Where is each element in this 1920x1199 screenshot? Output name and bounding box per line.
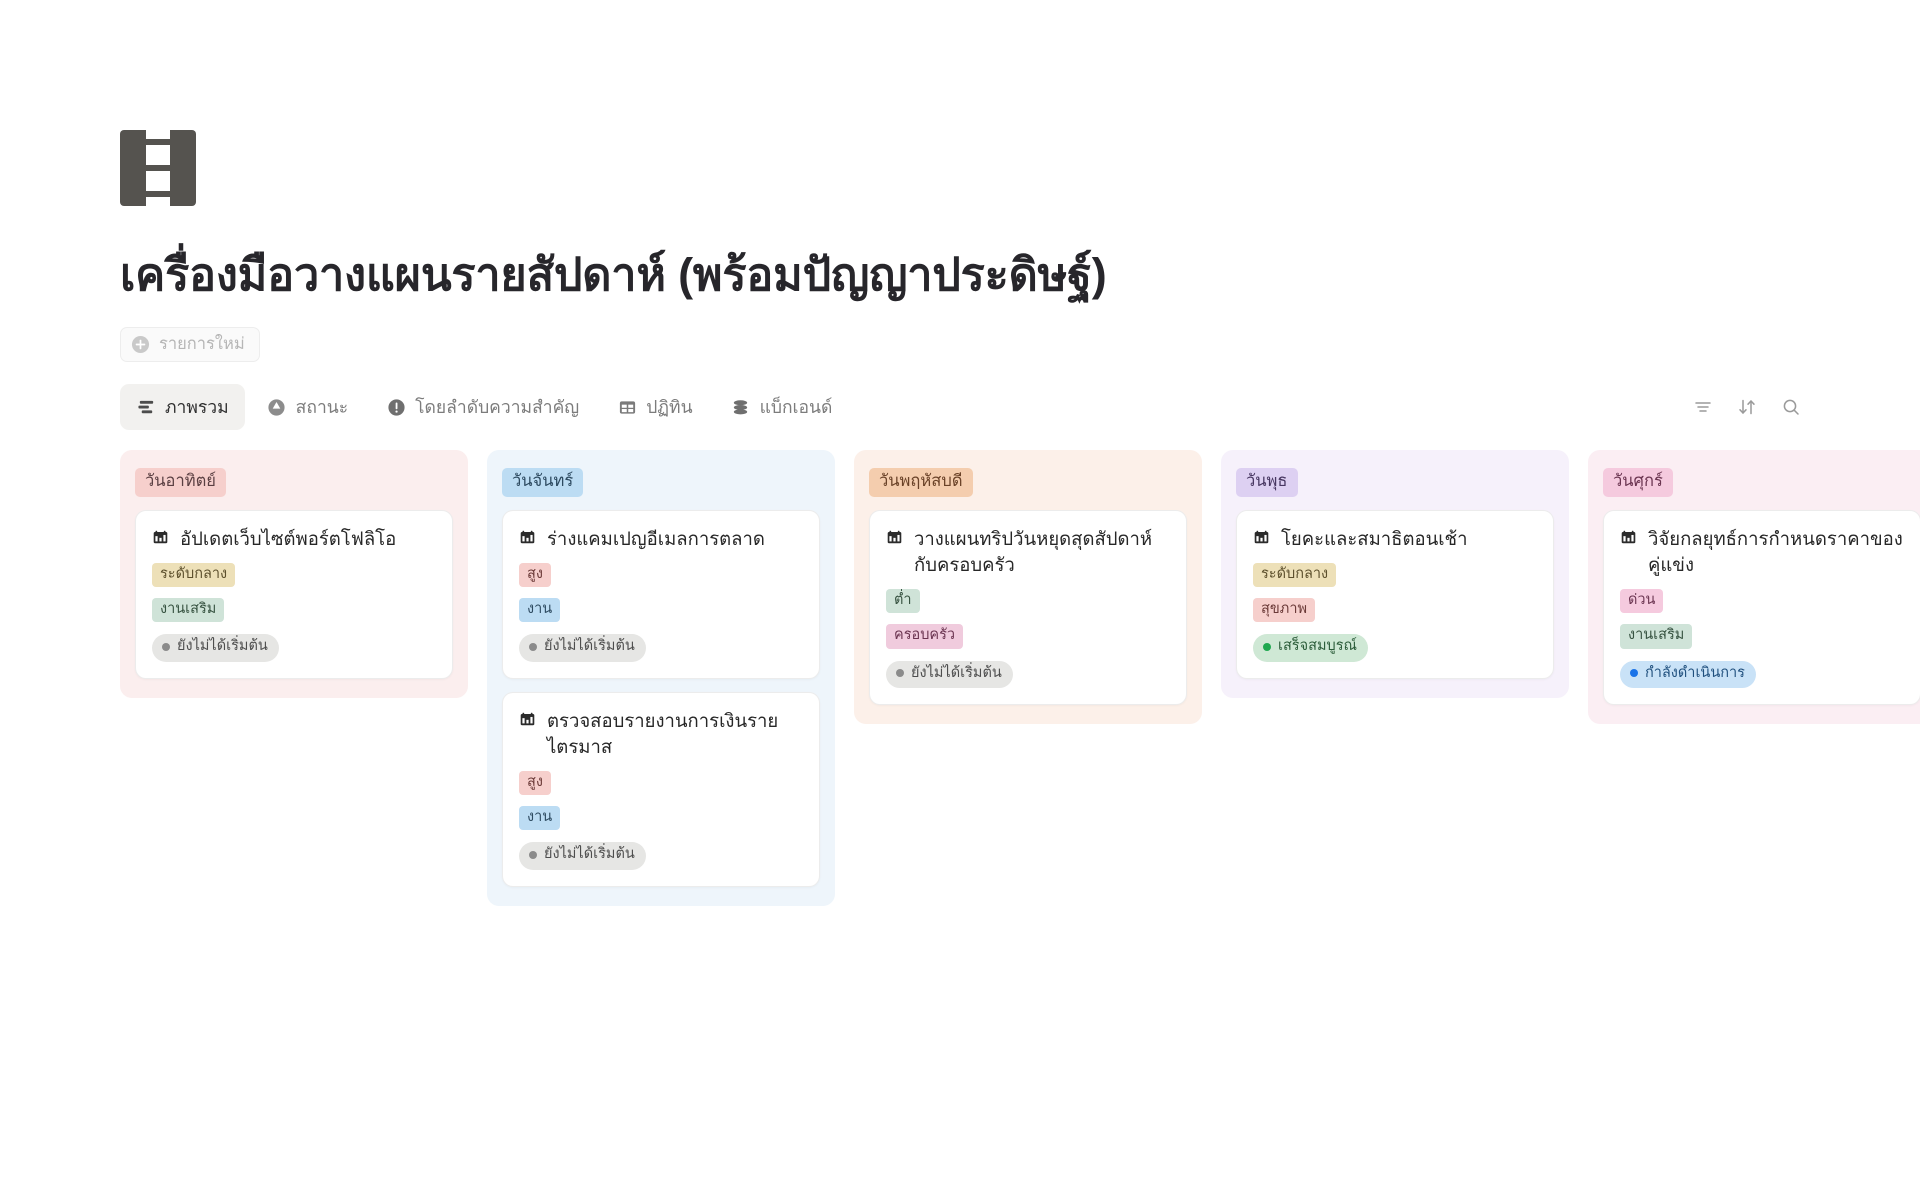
category-tag-row: สุขภาพ: [1253, 587, 1537, 622]
status-dot-icon: [162, 643, 170, 651]
tab-status[interactable]: สถานะ: [251, 384, 364, 430]
filter-icon[interactable]: [1692, 396, 1714, 418]
priority-tag-row: ระดับกลาง: [1253, 552, 1537, 587]
search-icon[interactable]: [1780, 396, 1802, 418]
task-card[interactable]: ร่างแคมเปญอีเมลการตลาดสูงงานยังไม่ได้เริ…: [502, 510, 820, 679]
board-column: วันจันทร์ร่างแคมเปญอีเมลการตลาดสูงงานยัง…: [487, 450, 835, 906]
status-badge[interactable]: ยังไม่ได้เริ่มต้น: [519, 634, 646, 661]
priority-tag-row: ด่วน: [1620, 578, 1904, 613]
task-title: โยคะและสมาธิตอนเช้า: [1281, 526, 1468, 552]
column-day-chip[interactable]: วันจันทร์: [502, 468, 583, 497]
weekly-board: วันอาทิตย์อัปเดตเว็บไซต์พอร์ตโฟลิโอระดับ…: [0, 450, 1920, 906]
priority-tag[interactable]: ระดับกลาง: [152, 563, 235, 587]
status-label: เสร็จสมบูรณ์: [1278, 638, 1357, 655]
status-dot-icon: [1263, 643, 1271, 651]
category-tag[interactable]: งานเสริม: [152, 598, 224, 622]
status-label: กำลังดำเนินการ: [1645, 665, 1745, 682]
calendar-icon: [519, 529, 536, 551]
priority-tag-row: สูง: [519, 552, 803, 587]
tab-overview-label: ภาพรวม: [165, 393, 229, 421]
priority-tag-row: ระดับกลาง: [152, 552, 436, 587]
calendar-grid-icon: [617, 397, 637, 417]
tab-calendar-label: ปฏิทิน: [646, 393, 692, 421]
calendar-icon: [152, 529, 169, 551]
task-card-title-row: โยคะและสมาธิตอนเช้า: [1253, 526, 1537, 552]
board-overview-icon: [136, 397, 156, 417]
page-header: เครื่องมือวางแผนรายสัปดาห์ (พร้อมปัญญาปร…: [0, 0, 1920, 430]
category-tag[interactable]: งาน: [519, 806, 560, 830]
new-item-label: รายการใหม่: [159, 336, 245, 353]
status-badge[interactable]: ยังไม่ได้เริ่มต้น: [886, 661, 1013, 688]
category-tag[interactable]: สุขภาพ: [1253, 598, 1315, 622]
table-grid-icon: [120, 130, 196, 206]
status-row: ยังไม่ได้เริ่มต้น: [519, 830, 803, 869]
category-tag-row: งาน: [519, 587, 803, 622]
category-tag-row: งานเสริม: [152, 587, 436, 622]
board-column: วันพฤหัสบดีวางแผนทริปวันหยุดสุดสัปดาห์กั…: [854, 450, 1202, 724]
view-tabs: ภาพรวม สถานะ: [120, 384, 848, 430]
status-dot-icon: [529, 851, 537, 859]
task-title: อัปเดตเว็บไซต์พอร์ตโฟลิโอ: [180, 526, 396, 552]
task-title: ตรวจสอบรายงานการเงินรายไตรมาส: [547, 708, 803, 761]
status-badge[interactable]: ยังไม่ได้เริ่มต้น: [152, 634, 279, 661]
column-day-chip[interactable]: วันพุธ: [1236, 468, 1298, 497]
tab-calendar[interactable]: ปฏิทิน: [601, 384, 708, 430]
tab-backend-label: แบ็กเอนด์: [760, 393, 833, 421]
status-badge[interactable]: ยังไม่ได้เริ่มต้น: [519, 842, 646, 869]
task-card[interactable]: วิจัยกลยุทธ์การกำหนดราคาของคู่แข่งด่วนงา…: [1603, 510, 1920, 705]
tab-status-label: สถานะ: [296, 393, 348, 421]
category-tag[interactable]: งานเสริม: [1620, 624, 1692, 648]
status-row: กำลังดำเนินการ: [1620, 649, 1904, 688]
category-tag[interactable]: งาน: [519, 598, 560, 622]
tab-priority[interactable]: โดยลำดับความสำคัญ: [370, 384, 595, 430]
category-tag-row: ครอบครัว: [886, 613, 1170, 648]
category-tag-row: งาน: [519, 795, 803, 830]
task-card[interactable]: วางแผนทริปวันหยุดสุดสัปดาห์กับครอบครัวต่…: [869, 510, 1187, 705]
task-card-title-row: ตรวจสอบรายงานการเงินรายไตรมาส: [519, 708, 803, 761]
status-label: ยังไม่ได้เริ่มต้น: [544, 846, 635, 863]
status-dot-icon: [1630, 669, 1638, 677]
app-root: เครื่องมือวางแผนรายสัปดาห์ (พร้อมปัญญาปร…: [0, 0, 1920, 1199]
status-dot-icon: [529, 643, 537, 651]
priority-tag[interactable]: ระดับกลาง: [1253, 563, 1336, 587]
status-label: ยังไม่ได้เริ่มต้น: [544, 638, 635, 655]
column-day-chip[interactable]: วันศุกร์: [1603, 468, 1673, 497]
status-label: ยังไม่ได้เริ่มต้น: [177, 638, 268, 655]
task-title: วางแผนทริปวันหยุดสุดสัปดาห์กับครอบครัว: [914, 526, 1170, 579]
status-badge[interactable]: เสร็จสมบูรณ์: [1253, 634, 1368, 661]
status-badge[interactable]: กำลังดำเนินการ: [1620, 661, 1756, 688]
status-row: เสร็จสมบูรณ์: [1253, 622, 1537, 661]
status-dot-icon: [896, 669, 904, 677]
status-row: ยังไม่ได้เริ่มต้น: [519, 622, 803, 661]
plus-circle-icon: [131, 335, 150, 354]
column-day-chip[interactable]: วันพฤหัสบดี: [869, 468, 973, 497]
tab-overview[interactable]: ภาพรวม: [120, 384, 245, 430]
task-card[interactable]: อัปเดตเว็บไซต์พอร์ตโฟลิโอระดับกลางงานเสร…: [135, 510, 453, 679]
board-tool-icons: [1692, 396, 1802, 418]
task-card[interactable]: โยคะและสมาธิตอนเช้าระดับกลางสุขภาพเสร็จส…: [1236, 510, 1554, 679]
priority-tag[interactable]: สูง: [519, 563, 551, 587]
tab-priority-label: โดยลำดับความสำคัญ: [415, 393, 579, 421]
task-card-title-row: อัปเดตเว็บไซต์พอร์ตโฟลิโอ: [152, 526, 436, 552]
task-title: วิจัยกลยุทธ์การกำหนดราคาของคู่แข่ง: [1648, 526, 1904, 579]
task-card[interactable]: ตรวจสอบรายงานการเงินรายไตรมาสสูงงานยังไม…: [502, 692, 820, 887]
calendar-icon: [886, 529, 903, 551]
tab-backend[interactable]: แบ็กเอนด์: [715, 384, 849, 430]
calendar-icon: [1620, 529, 1637, 551]
status-row: ยังไม่ได้เริ่มต้น: [152, 622, 436, 661]
calendar-icon: [519, 711, 536, 733]
task-card-title-row: วิจัยกลยุทธ์การกำหนดราคาของคู่แข่ง: [1620, 526, 1904, 579]
view-tabbar: ภาพรวม สถานะ: [120, 384, 1920, 430]
database-stack-icon: [731, 397, 751, 417]
board-column: วันศุกร์วิจัยกลยุทธ์การกำหนดราคาของคู่แข…: [1588, 450, 1920, 724]
page-title: เครื่องมือวางแผนรายสัปดาห์ (พร้อมปัญญาปร…: [120, 248, 1920, 301]
status-row: ยังไม่ได้เริ่มต้น: [886, 649, 1170, 688]
drop-status-icon: [267, 397, 287, 417]
category-tag[interactable]: ครอบครัว: [886, 624, 963, 648]
status-label: ยังไม่ได้เริ่มต้น: [911, 665, 1002, 682]
priority-tag[interactable]: ต่ำ: [886, 589, 920, 613]
priority-tag[interactable]: ด่วน: [1620, 589, 1663, 613]
priority-tag[interactable]: สูง: [519, 771, 551, 795]
column-day-chip[interactable]: วันอาทิตย์: [135, 468, 226, 497]
calendar-icon: [1253, 529, 1270, 551]
task-title: ร่างแคมเปญอีเมลการตลาด: [547, 526, 765, 552]
new-item-button[interactable]: รายการใหม่: [120, 327, 260, 362]
exclamation-circle-icon: [386, 397, 406, 417]
board-column: วันพุธโยคะและสมาธิตอนเช้าระดับกลางสุขภาพ…: [1221, 450, 1569, 698]
category-tag-row: งานเสริม: [1620, 613, 1904, 648]
new-item-row: รายการใหม่: [120, 327, 1920, 362]
sort-icon[interactable]: [1736, 396, 1758, 418]
priority-tag-row: สูง: [519, 760, 803, 795]
priority-tag-row: ต่ำ: [886, 578, 1170, 613]
task-card-title-row: ร่างแคมเปญอีเมลการตลาด: [519, 526, 803, 552]
task-card-title-row: วางแผนทริปวันหยุดสุดสัปดาห์กับครอบครัว: [886, 526, 1170, 579]
board-column: วันอาทิตย์อัปเดตเว็บไซต์พอร์ตโฟลิโอระดับ…: [120, 450, 468, 698]
